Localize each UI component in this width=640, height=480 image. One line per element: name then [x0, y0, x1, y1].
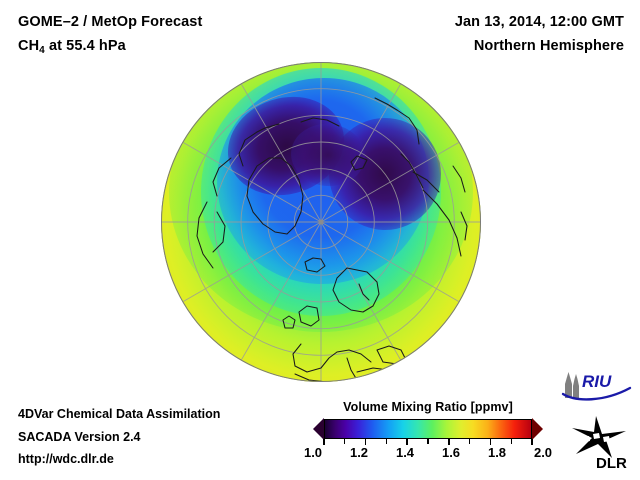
riu-wordmark: RIU — [582, 372, 612, 391]
dlr-logo: DLR — [566, 414, 634, 470]
colorbar-minor-tick — [344, 439, 345, 444]
colorbar-tick-label: 1.0 — [304, 445, 322, 460]
region-label: Northern Hemisphere — [455, 34, 624, 58]
riu-logo: RIU — [560, 370, 634, 404]
globe-disc — [161, 62, 481, 382]
colorbar-minor-tick — [469, 439, 470, 444]
globe-map — [161, 62, 481, 382]
colorbar-tick-label: 2.0 — [534, 445, 552, 460]
colorbar-minor-tick — [427, 439, 428, 444]
credits-block: 4DVar Chemical Data Assimilation SACADA … — [18, 403, 220, 471]
header-right: Jan 13, 2014, 12:00 GMT Northern Hemisph… — [455, 10, 624, 58]
map-overlay — [161, 62, 481, 382]
colorbar-tick-label: 1.2 — [350, 445, 368, 460]
colorbar-gradient — [324, 419, 532, 439]
credit-line-assimilation: 4DVar Chemical Data Assimilation — [18, 403, 220, 426]
figure-canvas: GOME–2 / MetOp Forecast CH4 at 55.4 hPa … — [0, 0, 640, 480]
colorbar-title: Volume Mixing Ratio [ppmv] — [313, 400, 543, 414]
pressure-level-label: at 55.4 hPa — [45, 38, 126, 54]
colorbar-row — [313, 418, 543, 440]
dlr-wordmark: DLR — [596, 455, 627, 470]
colorbar-high-arrow-cap — [532, 418, 543, 440]
colorbar-tick-labels: 1.01.21.41.61.82.0 — [313, 445, 543, 463]
header-left: GOME–2 / MetOp Forecast CH4 at 55.4 hPa — [18, 10, 202, 60]
credit-line-url[interactable]: http://wdc.dlr.de — [18, 448, 220, 471]
colorbar-tick-label: 1.6 — [442, 445, 460, 460]
colorbar-low-arrow-cap — [313, 418, 324, 440]
colorbar: Volume Mixing Ratio [ppmv] 1.01.21.41.61… — [313, 400, 543, 463]
species-level-title: CH4 at 55.4 hPa — [18, 34, 202, 60]
datetime-label: Jan 13, 2014, 12:00 GMT — [455, 10, 624, 34]
colorbar-tick-label: 1.8 — [488, 445, 506, 460]
colorbar-minor-tick — [386, 439, 387, 444]
colorbar-minor-tick — [511, 439, 512, 444]
species-label: CH — [18, 38, 39, 54]
credit-line-version: SACADA Version 2.4 — [18, 426, 220, 449]
cologne-cathedral-icon — [565, 372, 579, 398]
colorbar-tick-label: 1.4 — [396, 445, 414, 460]
species-subscript: 4 — [39, 45, 45, 56]
north-pole-marker — [318, 219, 323, 224]
instrument-title: GOME–2 / MetOp Forecast — [18, 10, 202, 34]
